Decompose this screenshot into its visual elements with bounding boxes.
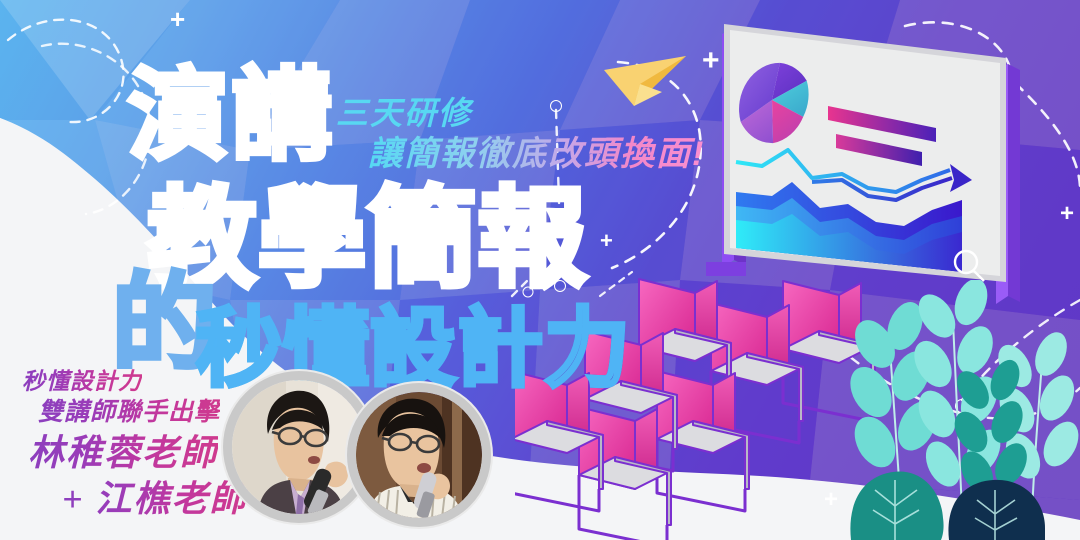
speaker-name-2: + 江樵老師: [62, 470, 248, 522]
subtitle-line-2: 讓簡報徹底改頭換面!: [368, 126, 705, 175]
speaker-name-1: 林稚蓉老師: [28, 424, 218, 476]
headline-block: 演講 教學簡報 的 秒懂設計力: [0, 0, 660, 400]
speaker-photo-left: [232, 380, 366, 514]
speaker-tagline-1: 秒懂設計力: [22, 362, 142, 396]
foliage-plants: [845, 280, 1080, 540]
speaker-tagline-2: 雙講師聯手出擊: [38, 392, 220, 428]
plus-icon: +: [1060, 202, 1074, 226]
promo-banner: + + + + + + +: [0, 0, 1080, 540]
speaker-photo-right: [356, 392, 482, 518]
title-line-4: 秒懂設計力: [196, 278, 631, 403]
